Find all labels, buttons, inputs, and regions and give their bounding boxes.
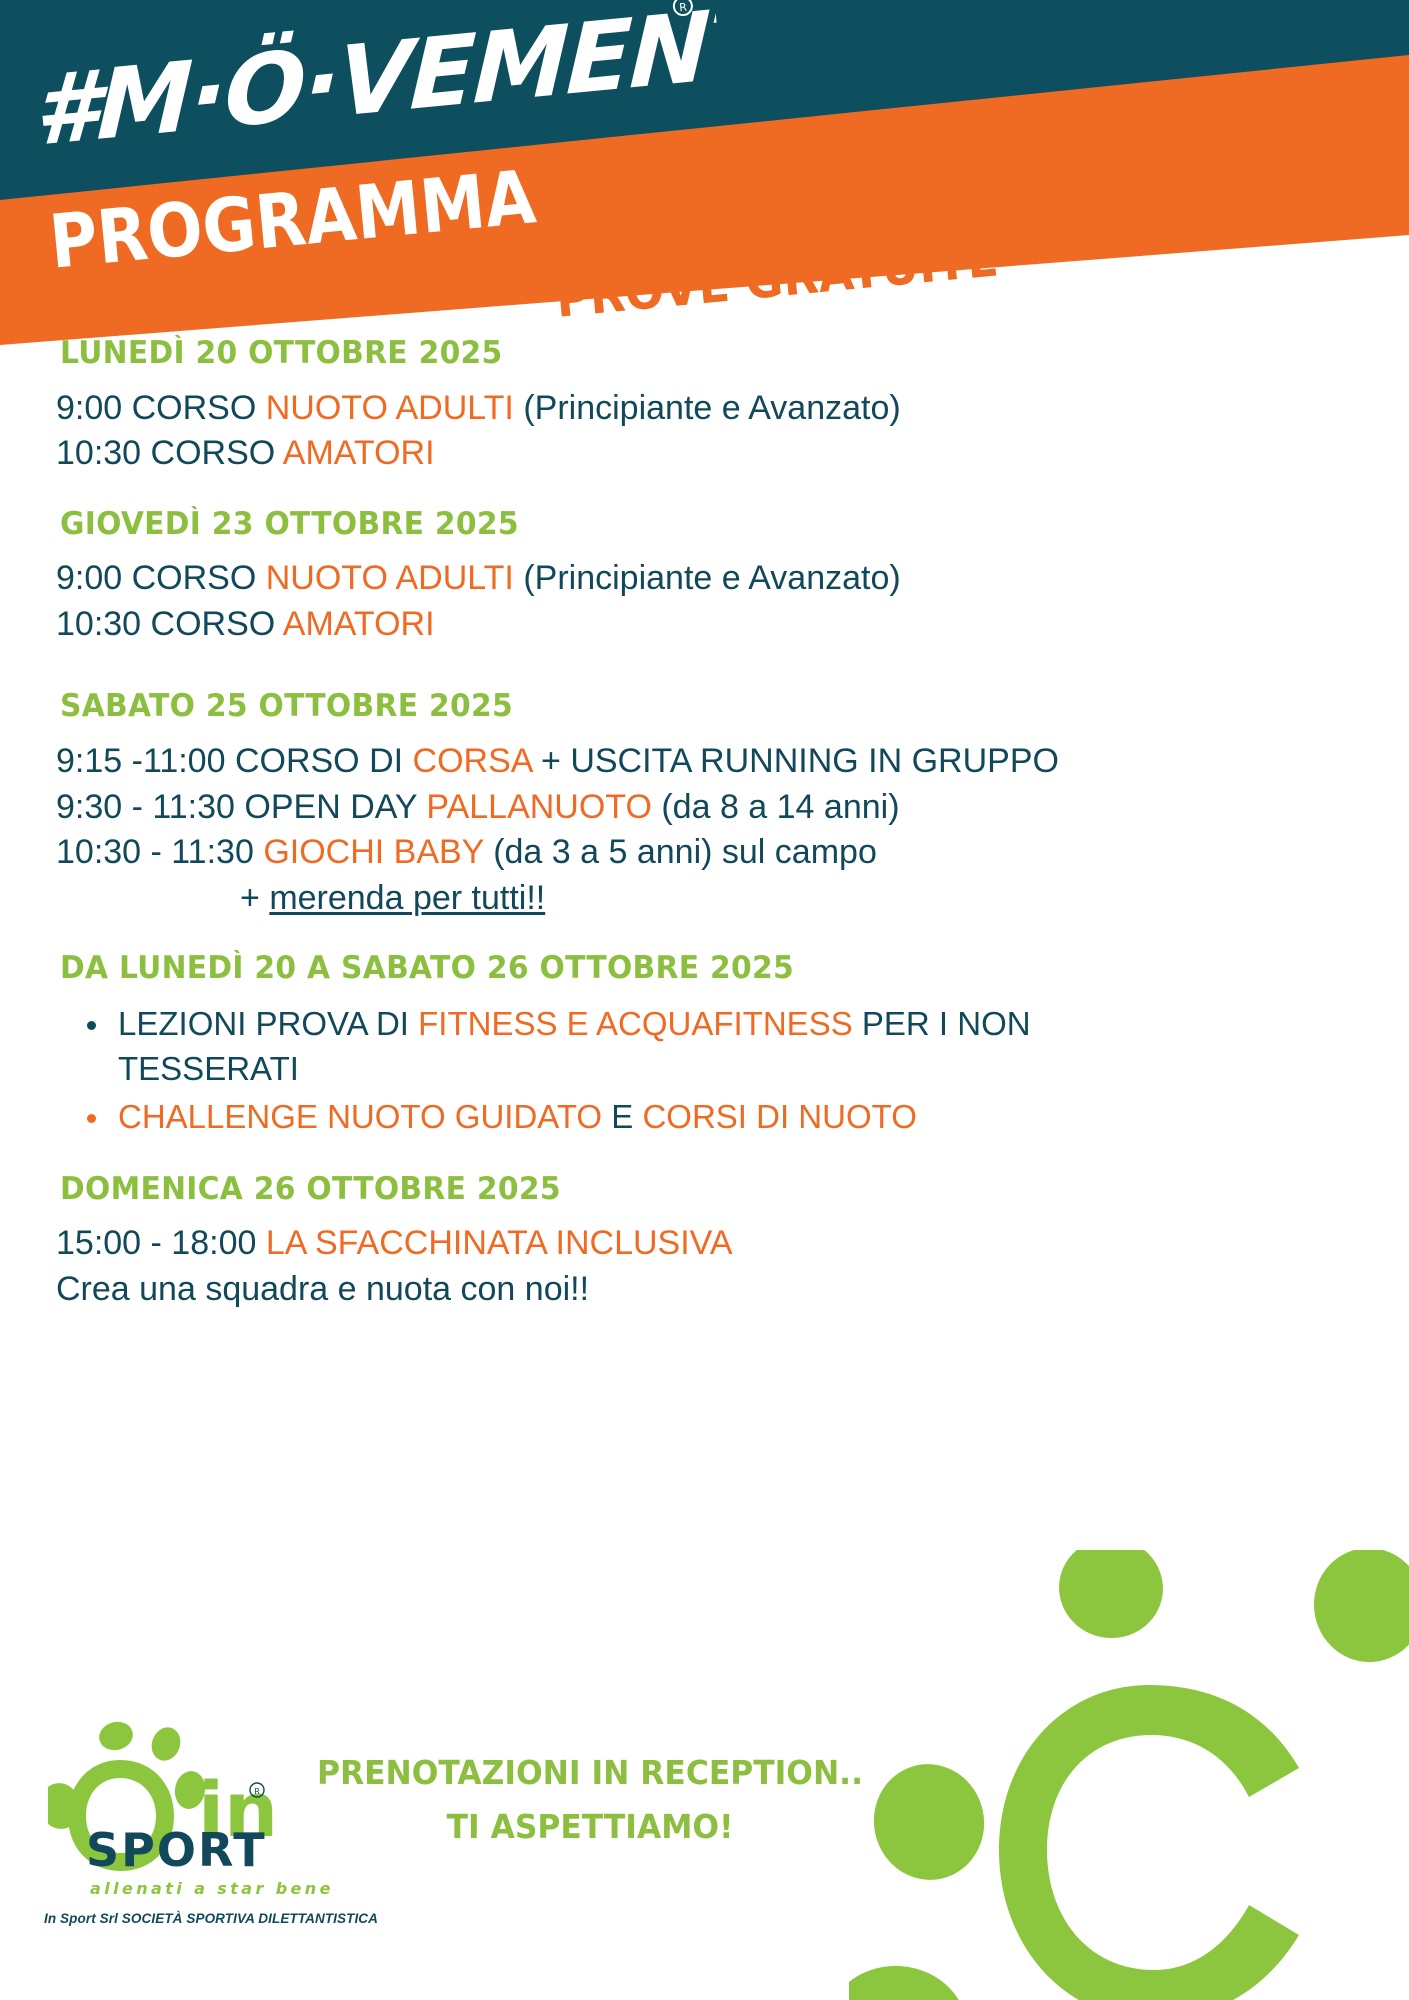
line-highlight: PALLANUOTO <box>426 788 651 826</box>
weekly-bullet-list: LEZIONI PROVA DI FITNESS E ACQUAFITNESS … <box>0 1001 1409 1140</box>
closing-text: Crea una squadra e nuota con noi!! <box>56 1270 589 1308</box>
line-highlight: LA SFACCHINATA INCLUSIVA <box>266 1224 733 1262</box>
bullet-highlight: CHALLENGE NUOTO GUIDATO <box>118 1098 602 1135</box>
bullet-mid: E <box>602 1098 642 1135</box>
line-time: 9:00 CORSO <box>56 559 266 597</box>
line-tail: (Principiante e Avanzato) <box>514 389 901 427</box>
day-heading-sabato-25: SABATO 25 OTTOBRE 2025 <box>60 689 1355 725</box>
line-highlight: GIOCHI BABY <box>263 833 483 871</box>
poster-footer: in R SPORT allenati a star bene In Sport… <box>0 1700 1409 2000</box>
schedule-line: 10:30 - 11:30 GIOCHI BABY (da 3 a 5 anni… <box>56 830 1409 876</box>
poster-canvas: #M·Ö·VEMENT R PROGRAMMA PROVE GRATUITE L… <box>0 0 1409 2000</box>
line-tail: + USCITA RUNNING IN GRUPPO <box>532 742 1059 780</box>
line-time: 10:30 CORSO <box>56 605 283 643</box>
list-item: CHALLENGE NUOTO GUIDATO E CORSI DI NUOTO <box>118 1094 1118 1140</box>
insport-legal-text: In Sport Srl SOCIETÀ SPORTIVA DILETTANTI… <box>44 1911 378 1926</box>
schedule-line: 10:30 CORSO AMATORI <box>56 602 1409 648</box>
line-highlight: AMATORI <box>283 605 435 643</box>
line-time: 9:00 CORSO <box>56 389 266 427</box>
day-heading-da-lunedi-a-sabato: DA LUNEDÌ 20 A SABATO 26 OTTOBRE 2025 <box>60 951 1355 987</box>
line-highlight: NUOTO ADULTI <box>266 389 514 427</box>
line-highlight: CORSA <box>413 742 532 780</box>
day-heading-giovedi-23: GIOVEDÌ 23 OTTOBRE 2025 <box>60 507 1355 543</box>
cta-line-1: PRENOTAZIONI IN RECEPTION.. <box>286 1746 894 1800</box>
cta-block: PRENOTAZIONI IN RECEPTION.. TI ASPETTIAM… <box>286 1746 894 1855</box>
schedule-line: 9:30 - 11:30 OPEN DAY PALLANUOTO (da 8 a… <box>56 785 1409 831</box>
line-time: 15:00 - 18:00 <box>56 1224 266 1262</box>
insport-sport-text: SPORT <box>86 1823 267 1877</box>
line-time: 10:30 - 11:30 <box>56 833 263 871</box>
line-highlight: NUOTO ADULTI <box>266 559 514 597</box>
insport-tagline-text: allenati a star bene <box>90 1879 334 1898</box>
schedule-line: 15:00 - 18:00 LA SFACCHINATA INCLUSIVA <box>56 1221 1409 1267</box>
schedule-closing-line: Crea una squadra e nuota con noi!! <box>56 1267 1409 1313</box>
schedule-line: 10:30 CORSO AMATORI <box>56 431 1409 477</box>
merenda-line: + merenda per tutti!! <box>240 876 1409 922</box>
line-tail: (Principiante e Avanzato) <box>514 559 901 597</box>
bullet-highlight: FITNESS E ACQUAFITNESS <box>418 1005 853 1042</box>
schedule-content: LUNEDÌ 20 OTTOBRE 2025 9:00 CORSO NUOTO … <box>0 336 1409 1312</box>
line-time: 9:30 - 11:30 OPEN DAY <box>56 788 426 826</box>
merenda-underlined-text: merenda per tutti!! <box>269 879 545 917</box>
merenda-prefix: + <box>240 879 269 917</box>
line-highlight: AMATORI <box>283 434 435 472</box>
list-item: LEZIONI PROVA DI FITNESS E ACQUAFITNESS … <box>118 1001 1118 1092</box>
svg-text:R: R <box>679 1 688 15</box>
cta-line-2: TI ASPETTIAMO! <box>286 1800 894 1854</box>
line-time: 10:30 CORSO <box>56 434 283 472</box>
svg-text:R: R <box>254 1787 260 1796</box>
day-heading-lunedi-20: LUNEDÌ 20 OTTOBRE 2025 <box>60 336 1355 372</box>
line-tail: (da 8 a 14 anni) <box>652 788 900 826</box>
schedule-line: 9:00 CORSO NUOTO ADULTI (Principiante e … <box>56 386 1409 432</box>
line-tail: (da 3 a 5 anni) sul campo <box>484 833 877 871</box>
line-time: 9:15 -11:00 CORSO DI <box>56 742 413 780</box>
day-heading-domenica-26: DOMENICA 26 OTTOBRE 2025 <box>60 1172 1355 1208</box>
schedule-line: 9:00 CORSO NUOTO ADULTI (Principiante e … <box>56 556 1409 602</box>
bullet-highlight-2: CORSI DI NUOTO <box>642 1098 916 1135</box>
bullet-pre: LEZIONI PROVA DI <box>118 1005 418 1042</box>
schedule-line: 9:15 -11:00 CORSO DI CORSA + USCITA RUNN… <box>56 739 1409 785</box>
